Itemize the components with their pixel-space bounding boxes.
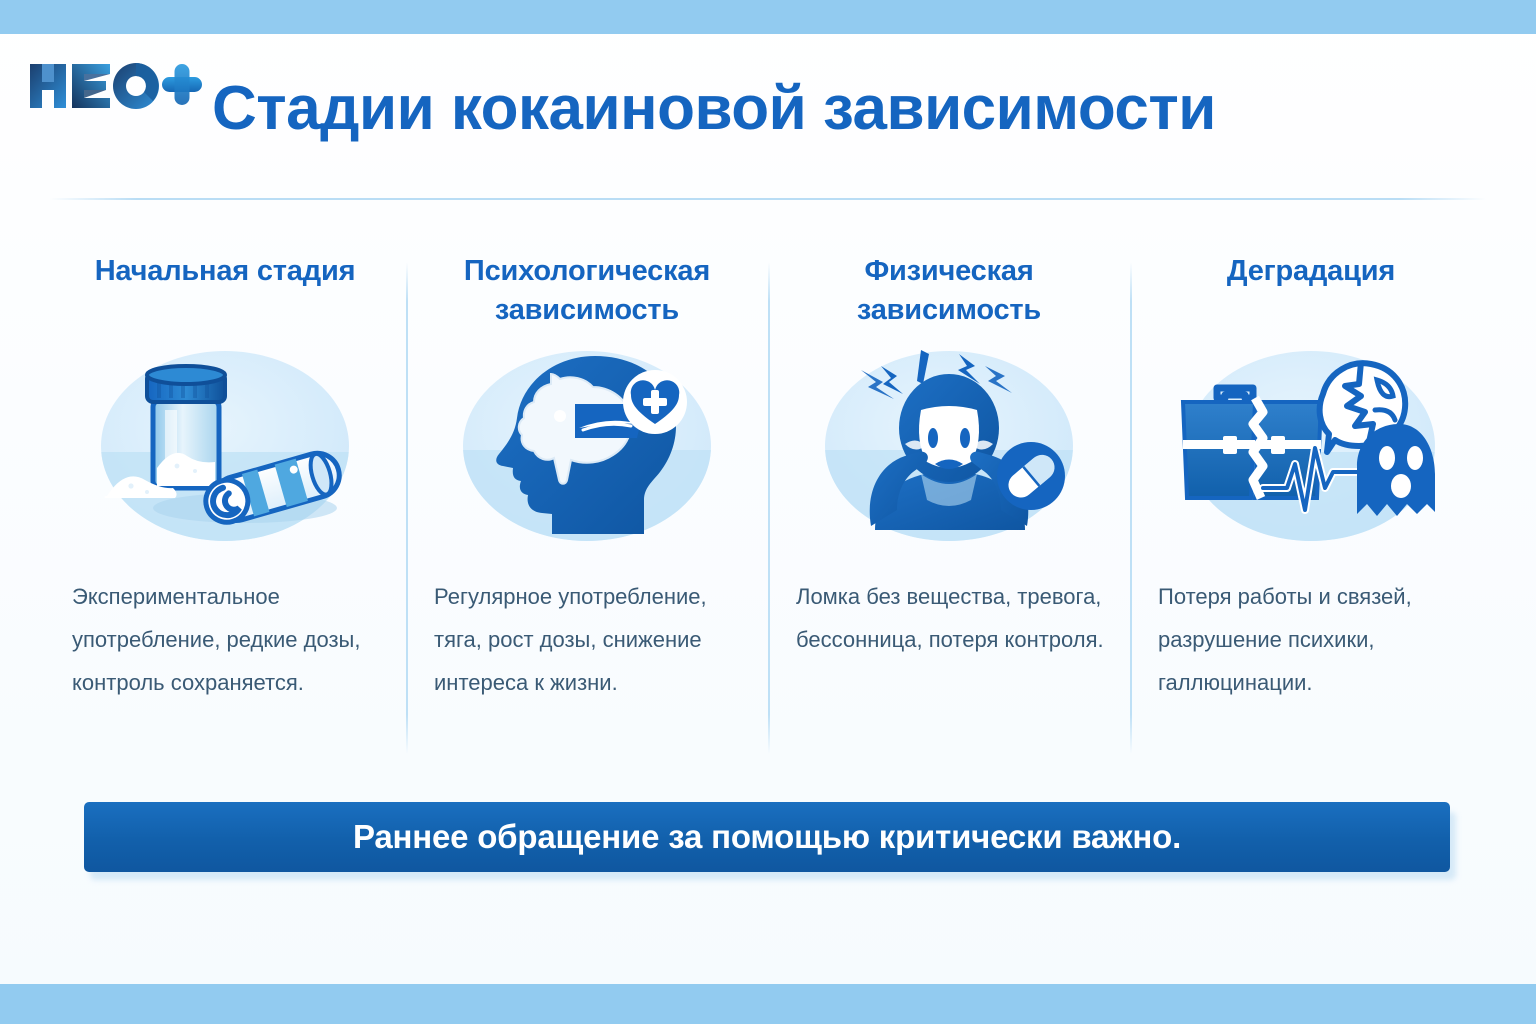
- stage-column-3: Физическая зависимость: [768, 252, 1130, 762]
- infographic-poster: Стадии кокаиновой зависимости Начальная …: [0, 0, 1536, 1024]
- stage-column-2: Психологическая зависимость: [406, 252, 768, 762]
- top-accent-band: [0, 0, 1536, 34]
- call-to-action-banner: Раннее обращение за помощью критически в…: [84, 802, 1450, 872]
- banner-text: Раннее обращение за помощью критически в…: [353, 818, 1181, 856]
- title-divider: [50, 198, 1486, 200]
- neo-plus-logo: [24, 58, 204, 114]
- stage-body: Экспериментальное употребление, редкие д…: [60, 576, 390, 705]
- stage-heading: Психологическая зависимость: [422, 252, 752, 334]
- broken-briefcase-cracked-brain-ghost-icon: [1171, 340, 1451, 552]
- stage-body: Ломка без вещества, тревога, бессонница,…: [784, 576, 1114, 662]
- stages-container: Начальная стадия: [44, 252, 1492, 762]
- stage-body: Потеря работы и связей, разрушение психи…: [1146, 576, 1476, 705]
- stage-column-4: Деградация: [1130, 252, 1492, 762]
- stage-heading: Деградация: [1227, 252, 1395, 334]
- stage-body: Регулярное употребление, тяга, рост дозы…: [422, 576, 752, 705]
- stage-heading: Начальная стадия: [95, 252, 356, 334]
- pill-jar-with-powder-and-rolled-note-icon: [85, 340, 365, 552]
- head-profile-brain-with-heart-plus-icon: [447, 340, 727, 552]
- stage-column-1: Начальная стадия: [44, 252, 406, 762]
- page-title: Стадии кокаиновой зависимости: [212, 76, 1312, 141]
- stage-heading: Физическая зависимость: [784, 252, 1114, 334]
- bottom-accent-band: [0, 984, 1536, 1024]
- distressed-person-headache-with-pill-icon: [809, 340, 1089, 552]
